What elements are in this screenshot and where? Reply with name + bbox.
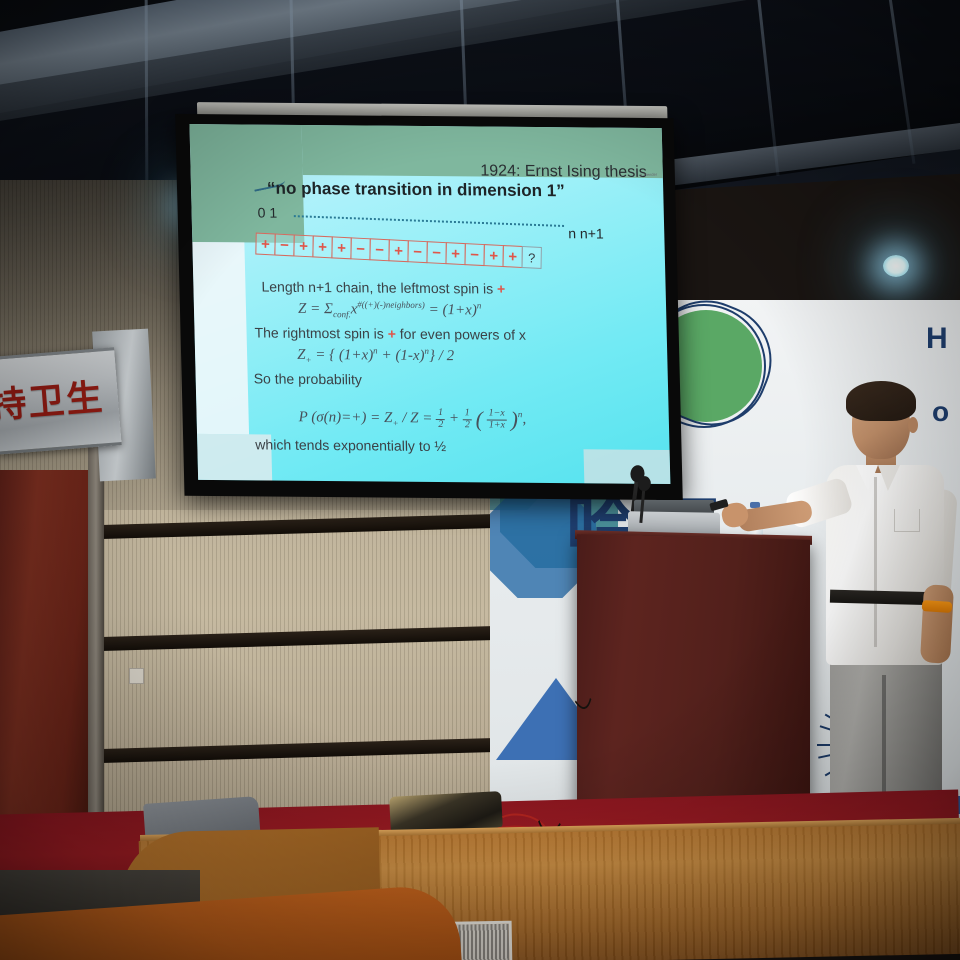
slide-text-line-3: So the probability: [253, 370, 362, 387]
speaker-hair: [846, 381, 916, 421]
spin-chain: + − + + + − − + − − + − + + ?: [256, 233, 542, 269]
eq-z-sub: +: [305, 355, 311, 365]
eq-frac-half-1: 1 2: [436, 408, 446, 430]
slide-equation-zplus: Z+ = { (1+x)n + (1-x)n} / 2: [297, 345, 455, 366]
eq-z-rhs2: + (1-x): [381, 348, 424, 364]
slide-dotted-rule: [294, 215, 564, 229]
slide-edge-glare-left: [192, 242, 249, 434]
spin-cell: +: [388, 239, 408, 262]
eq-z-rhs1: = { (1+x): [315, 347, 373, 364]
frac-den: 2: [463, 420, 472, 431]
slide-text: The rightmost spin is: [254, 324, 384, 341]
slide-text-line-4: which tends exponentially to ½: [255, 436, 446, 454]
speaker-ear: [908, 417, 918, 433]
spin-cell: +: [312, 235, 332, 258]
eq-paren-open: (: [475, 406, 483, 431]
projector-screen: 1924: Ernst Ising thesis “no phase trans…: [175, 114, 683, 500]
spin-cell: +: [255, 233, 275, 256]
eq-part-rhs: = (1+x): [429, 302, 478, 318]
spin-cell: −: [464, 243, 484, 266]
banner-letter-h-top: H: [926, 322, 948, 356]
spin-cell: +: [445, 242, 465, 265]
eq-frac-ratio: 1−x 1+x: [486, 408, 507, 430]
frac-num: 1−x: [486, 408, 506, 420]
slide-equation-partition: Z = Σconf.x#((+)(-)neighbors) = (1+x)n: [298, 299, 482, 321]
frac-num: 1: [463, 408, 472, 420]
frac-num: 1: [436, 408, 445, 420]
eq-z-rhs3: } / 2: [429, 348, 455, 364]
slide-text-line-1: Length n+1 chain, the leftmost spin is +: [261, 279, 505, 297]
screen-frame: 1924: Ernst Ising thesis “no phase trans…: [175, 114, 683, 500]
spin-cell: −: [369, 238, 389, 261]
eq-p-mid: / Z =: [402, 410, 433, 426]
eq-p-lhs: P (σ(n)=+) = Z: [298, 409, 392, 426]
eq-part-rhs-exp: n: [477, 300, 482, 310]
slide-text: which tends exponentially to ½: [255, 436, 446, 454]
slide-text: So the probability: [253, 370, 362, 387]
spotlight-right: [876, 248, 916, 284]
spotlight-core: [883, 255, 909, 277]
wall-sign-text: 持卫生: [0, 367, 122, 429]
speaker-shirt-placket: [874, 477, 877, 647]
spin-cell: +: [331, 236, 351, 259]
spin-cell: −: [350, 237, 370, 260]
orange-wristband: [922, 600, 953, 613]
wall-outlet: [129, 668, 144, 684]
spin-cell: −: [426, 241, 446, 264]
spin-cell: −: [407, 240, 427, 263]
eq-part-lhs: Z = Σ: [298, 301, 333, 317]
eq-part-exp: #((+)(-)neighbors): [357, 299, 425, 310]
spin-cell: +: [293, 234, 313, 257]
slide-text-line-2: The rightmost spin is + for even powers …: [254, 324, 526, 342]
slide-title-quote: “no phase transition in dimension 1”: [267, 179, 565, 202]
eq-frac-half-2: 1 2: [463, 408, 473, 430]
eq-p-sub: +: [392, 418, 398, 428]
photo-scene: 持卫生 哈工 H o H o: [0, 0, 960, 960]
slide-body: Length n+1 chain, the leftmost spin is +…: [251, 278, 651, 281]
eq-comma: ,: [522, 411, 526, 427]
screen-brand-label: X-Render: [640, 172, 657, 178]
slide-title-year: 1924: Ernst Ising thesis: [480, 163, 647, 182]
spin-cell: +: [483, 244, 503, 267]
spin-cell: −: [274, 233, 294, 256]
frac-den: 2: [436, 420, 445, 431]
eq-z-exp1: n: [373, 345, 378, 355]
slide-plus-glyph: +: [388, 326, 397, 342]
frac-den: 1+x: [487, 420, 507, 431]
slide-plus-glyph: +: [497, 281, 506, 297]
slide-index-left: 0 1: [257, 205, 277, 221]
eq-part-sub: conf.: [333, 309, 351, 319]
speaker-right-forearm: [920, 584, 954, 663]
speaker-shirt-pocket: [894, 509, 920, 532]
slide-equation-probability: P (σ(n)=+) = Z+ / Z = 1 2 + 1 2 (: [298, 405, 526, 433]
eq-plus: +: [449, 411, 460, 427]
slide-text: Length n+1 chain, the leftmost spin is: [261, 279, 493, 297]
spin-cell-unknown: ?: [522, 246, 542, 269]
spin-cell: +: [502, 245, 522, 268]
slide-index-right: n n+1: [568, 225, 604, 241]
presentation-slide: 1924: Ernst Ising thesis “no phase trans…: [189, 124, 670, 484]
slide-text: for even powers of x: [400, 326, 527, 343]
